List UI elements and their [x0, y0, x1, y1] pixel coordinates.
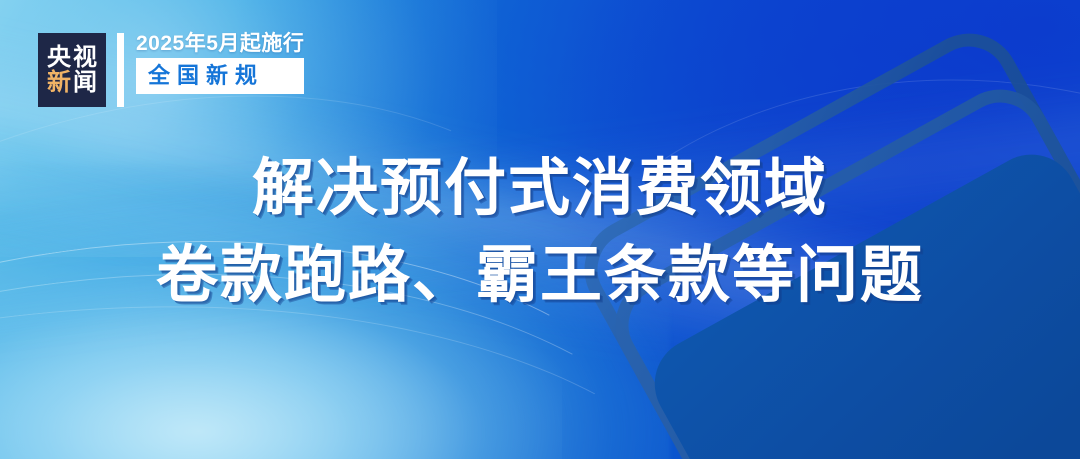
- vertical-divider: [117, 33, 124, 107]
- cctv-news-logo: 央 视 新 闻: [38, 33, 106, 107]
- background-glow-bottom-left-inner: [0, 266, 562, 459]
- branding-header: 央 视 新 闻 2025年5月起施行 全国新规: [38, 33, 304, 107]
- cctv-logo-char-yang: 央: [47, 46, 71, 70]
- national-new-rules-label: 全国新规: [136, 58, 304, 94]
- cctv-logo-line-1: 央 视: [47, 46, 97, 70]
- badge-text-group: 2025年5月起施行 全国新规: [136, 33, 304, 107]
- effective-date-label: 2025年5月起施行: [136, 33, 304, 55]
- cctv-logo-line-2: 新 闻: [47, 71, 97, 95]
- news-banner: 央 视 新 闻 2025年5月起施行 全国新规 解决预付式消费领域 卷款跑路、霸…: [0, 0, 1080, 459]
- cctv-logo-char-shi: 视: [73, 46, 97, 70]
- cctv-logo-char-xin: 新: [47, 71, 71, 95]
- cctv-logo-char-wen: 闻: [73, 71, 97, 95]
